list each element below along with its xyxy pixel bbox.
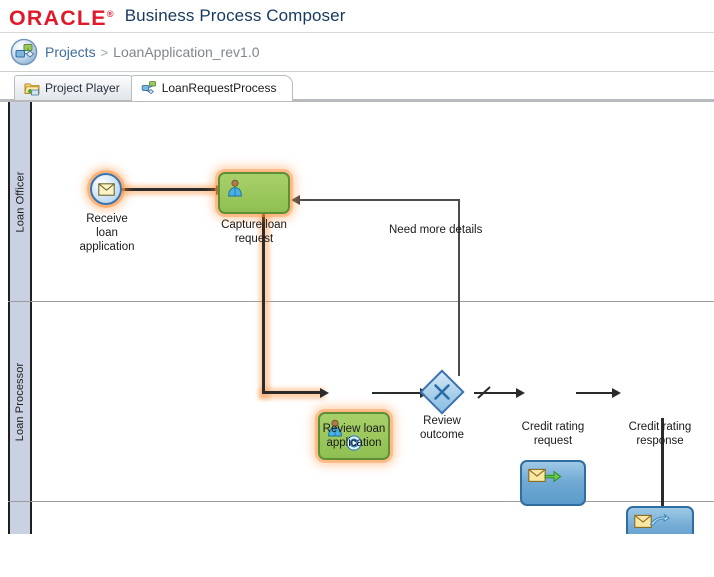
breadcrumb-current: LoanApplication_rev1.0 <box>113 44 259 60</box>
node-capture-loan-request[interactable] <box>218 172 290 214</box>
tab-label: LoanRequestProcess <box>162 81 277 95</box>
node-receive-loan-application[interactable] <box>90 173 122 205</box>
oracle-trademark: ® <box>107 9 115 19</box>
lane-body-loan-officer <box>32 102 714 301</box>
lane-body-third <box>32 502 714 534</box>
flow-arrowhead <box>320 388 329 398</box>
flow-capture-to-review-horizontal <box>262 391 322 394</box>
project-player-icon <box>24 80 40 96</box>
tab-loanrequestprocess[interactable]: LoanRequestProcess <box>131 75 294 100</box>
label-receive-loan-application: Receive loan application <box>52 212 162 254</box>
flow-credit-request-to-response <box>576 392 616 395</box>
receive-task-icon <box>634 513 670 534</box>
breadcrumb-separator: > <box>101 45 109 60</box>
message-icon <box>98 183 115 196</box>
process-canvas[interactable]: Loan Officer Loan Processor <box>0 100 714 534</box>
breadcrumb-projects-link[interactable]: Projects <box>45 44 96 60</box>
label-review-loan-application: Review loan application <box>296 422 412 450</box>
app-title: Business Process Composer <box>125 6 346 26</box>
label-review-outcome: Review outcome <box>402 414 482 442</box>
lane-label: Loan Officer <box>14 171 26 232</box>
lane-body-loan-processor <box>32 302 714 501</box>
label-credit-rating-request: Credit rating request <box>497 420 609 448</box>
send-task-icon <box>528 467 562 488</box>
flow-arrowhead <box>291 195 300 205</box>
process-icon <box>141 80 157 96</box>
projects-icon <box>10 38 38 66</box>
flow-label-need-more-details: Need more details <box>389 224 482 236</box>
bpmn-pool: Loan Officer Loan Processor <box>8 102 714 534</box>
tab-project-player[interactable]: Project Player <box>14 75 137 100</box>
node-review-outcome[interactable] <box>426 376 458 408</box>
lane-header-third <box>8 502 32 534</box>
lane-label: Loan Processor <box>14 362 26 440</box>
lane-header-loan-officer: Loan Officer <box>8 102 32 301</box>
node-credit-rating-response[interactable] <box>626 506 694 534</box>
lane-loan-processor: Loan Processor <box>8 302 714 502</box>
flow-arrowhead <box>516 388 525 398</box>
user-task-icon <box>226 179 244 200</box>
label-credit-rating-response: Credit rating response <box>604 420 714 448</box>
label-capture-loan-request: Capture loan request <box>198 218 310 246</box>
lane-header-loan-processor: Loan Processor <box>8 302 32 501</box>
flow-receive-to-capture <box>122 188 218 191</box>
flow-review-to-gateway <box>372 392 424 395</box>
flow-need-more-details-horizontal <box>300 199 460 201</box>
gateway-x-icon <box>426 376 458 408</box>
oracle-logo: ORACLE® <box>9 4 115 29</box>
flow-arrowhead <box>612 388 621 398</box>
lane-third <box>8 502 714 534</box>
oracle-wordmark: ORACLE <box>9 7 107 30</box>
brand-bar: ORACLE® Business Process Composer <box>0 0 714 32</box>
tab-label: Project Player <box>45 81 120 95</box>
default-flow-marker <box>476 385 492 397</box>
breadcrumb: Projects > LoanApplication_rev1.0 <box>0 33 714 71</box>
tab-strip: Project Player LoanRequestProcess <box>0 72 714 100</box>
node-credit-rating-request[interactable] <box>520 460 586 506</box>
